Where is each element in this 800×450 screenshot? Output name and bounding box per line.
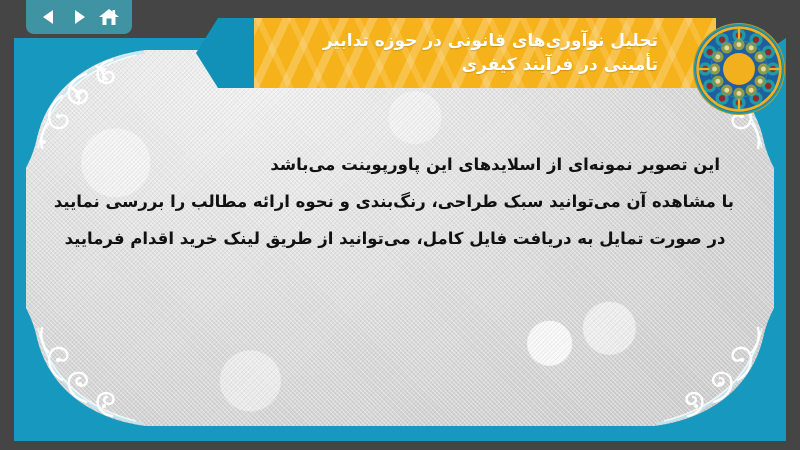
arabesque-corner-bottom-right — [654, 306, 774, 426]
banner-body: تحلیل نوآوری‌های قانونی در حوزه تدابیر ت… — [254, 18, 716, 88]
title-banner: تحلیل نوآوری‌های قانونی در حوزه تدابیر ت… — [196, 18, 716, 88]
arabesque-corner-bottom-left — [26, 306, 146, 426]
triangle-left-icon — [39, 7, 59, 27]
home-button[interactable] — [98, 6, 120, 28]
title-line-1: تحلیل نوآوری‌های قانونی در حوزه تدابیر — [323, 29, 658, 53]
mandala-medallion-icon — [692, 22, 786, 116]
back-button[interactable] — [38, 6, 60, 28]
forward-button[interactable] — [68, 6, 90, 28]
banner-arrow-shape — [196, 18, 256, 88]
body-line-1: این تصویر نمونه‌ای از اسلایدهای این پاور… — [56, 146, 734, 183]
slide-body-text: این تصویر نمونه‌ای از اسلایدهای این پاور… — [56, 146, 734, 257]
body-line-3: در صورت تمایل به دریافت فایل کامل، می‌تو… — [56, 220, 734, 257]
title-line-2: تأمینی در فرآیند کیفری — [461, 53, 658, 77]
triangle-right-icon — [69, 7, 89, 27]
slide-frame: این تصویر نمونه‌ای از اسلایدهای این پاور… — [14, 38, 786, 441]
body-line-2: با مشاهده آن می‌توانید سبک طراحی، رنگ‌بن… — [56, 183, 734, 220]
slide-content-panel: این تصویر نمونه‌ای از اسلایدهای این پاور… — [26, 50, 774, 426]
navigation-bar — [26, 0, 132, 34]
home-icon — [98, 7, 120, 27]
